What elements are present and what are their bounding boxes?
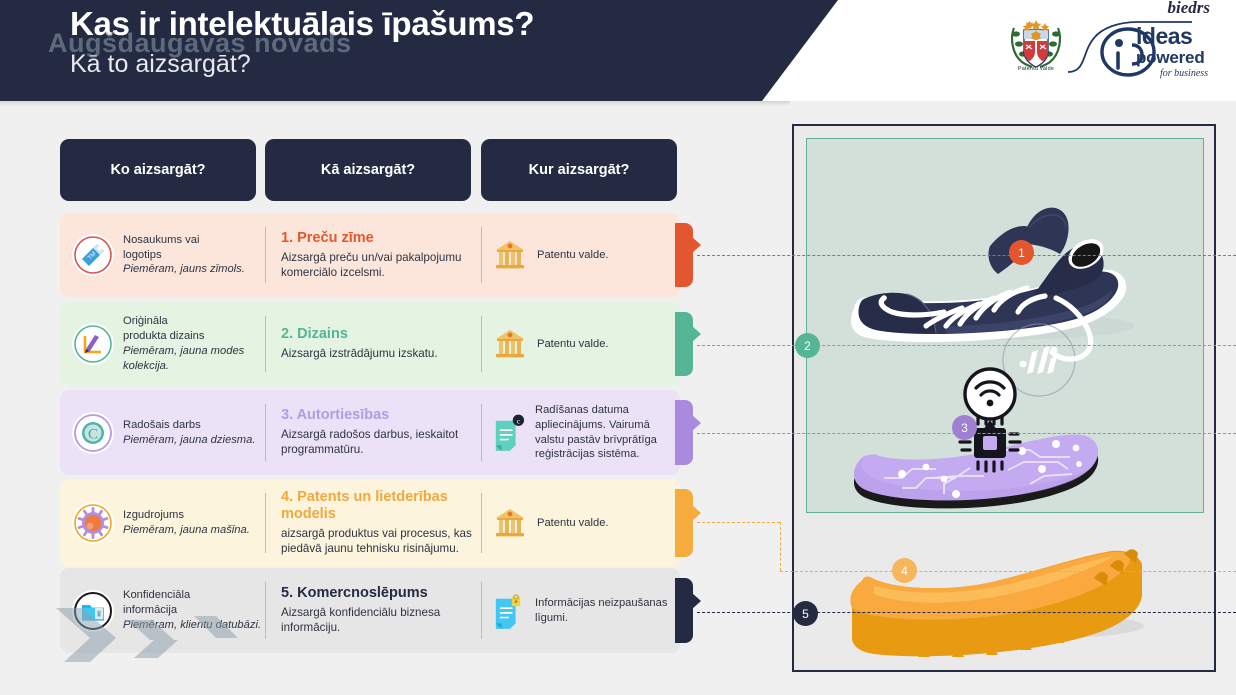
where-text: Patentu valde.	[537, 516, 609, 531]
locked-doc-icon	[493, 591, 525, 631]
what-example: Piemēram, jauns zīmols.	[123, 263, 245, 275]
for-business-tagline: for business	[1160, 68, 1208, 79]
bank-icon	[493, 327, 527, 361]
row-icon-wrapper	[72, 502, 114, 544]
cell-what-to-protect: CRadošais darbsPiemēram, jauna dziesma.	[60, 390, 265, 475]
column-header-label: Kur aizsargāt?	[529, 162, 630, 178]
table-row[interactable]: TMNosaukums vailogotipsPiemēram, jauns z…	[60, 213, 680, 297]
how-title: 2. Dizains	[281, 326, 438, 343]
tm-tag-icon: TM	[73, 235, 113, 275]
svg-text:C: C	[88, 426, 98, 442]
powered-wordmark: powered	[1136, 48, 1205, 68]
table-row[interactable]: IzgudrojumsPiemēram, jauna mašīna.4. Pat…	[60, 479, 680, 567]
cell-divider	[481, 493, 482, 553]
how-block: 2. Dizains Aizsargā izstrādājumu izskatu…	[281, 326, 438, 361]
what-example: Piemēram, jauna mašīna.	[123, 524, 250, 536]
what-line-2: logotips	[123, 249, 162, 261]
where-text: Patentu valde.	[537, 248, 609, 263]
column-header-how[interactable]: Kā aizsargāt?	[265, 139, 471, 201]
cell-how-to-protect: 3. Autortiesības Aizsargā radošos darbus…	[265, 390, 481, 475]
table-row[interactable]: Oriģinālaprodukta dizainsPiemēram, jauna…	[60, 302, 680, 386]
cell-divider	[481, 227, 482, 283]
column-header-label: Ko aizsargāt?	[110, 162, 205, 178]
cell-divider	[265, 316, 266, 372]
row-color-tab	[675, 400, 693, 465]
what-line-1: Radošais darbs	[123, 419, 201, 431]
cell-how-to-protect: 5. Komercnoslēpums Aizsargā konfidenciāl…	[265, 568, 481, 653]
row-arrow-notch	[692, 593, 701, 609]
connector-line	[697, 255, 1236, 256]
row-color-tab	[675, 312, 693, 376]
column-header-what[interactable]: Ko aizsargāt?	[60, 139, 256, 201]
what-example: Piemēram, klientu datubāzi.	[123, 619, 261, 631]
how-description: Aizsargā konfidenciālu biznesa informāci…	[281, 605, 481, 636]
row-arrow-notch	[692, 326, 701, 342]
connector-line	[697, 345, 1236, 346]
how-title: 5. Komercnoslēpums	[281, 585, 481, 602]
row-icon-wrapper: TM	[72, 234, 114, 276]
cell-where-to-protect: Patentu valde.	[481, 213, 680, 297]
smart-insole-illustration	[854, 369, 1098, 508]
connector-line-vertical	[780, 522, 781, 571]
cell-what-to-protect: Oriģinālaprodukta dizainsPiemēram, jauna…	[60, 302, 265, 386]
row-icon-wrapper	[72, 590, 114, 632]
latvia-coat-of-arms-icon	[1008, 18, 1064, 72]
how-title: 4. Patents un lietderības modelis	[281, 489, 481, 523]
table-row[interactable]: CRadošais darbsPiemēram, jauna dziesma.3…	[60, 390, 680, 475]
where-text: Radīšanas datuma apliecinājums. Vairumā …	[535, 403, 680, 463]
what-line-2: informācija	[123, 604, 177, 616]
logo-zone: biedrs Patentu valde ideas powered for b…	[984, 0, 1224, 96]
illustration-badge-1[interactable]: 1	[1009, 240, 1034, 265]
what-line-1: Izgudrojums	[123, 509, 184, 521]
where-text: Patentu valde.	[537, 337, 609, 352]
illustration-panel	[792, 124, 1216, 672]
column-header-where[interactable]: Kur aizsargāt?	[481, 139, 677, 201]
how-title: 3. Autortiesības	[281, 407, 481, 424]
cell-where-to-protect: Informācijas neizpaušanas līgumi.	[481, 568, 680, 653]
what-text: Oriģinālaprodukta dizainsPiemēram, jauna…	[123, 314, 265, 374]
cell-divider	[265, 404, 266, 461]
design-ruler-icon	[73, 324, 113, 364]
invention-gear-icon	[73, 503, 113, 543]
cell-how-to-protect: 1. Preču zīme Aizsargā preču un/vai paka…	[265, 213, 481, 297]
row-arrow-notch	[692, 415, 701, 431]
connector-line	[697, 522, 780, 523]
what-line-1: Nosaukums vai	[123, 234, 199, 246]
how-block: 5. Komercnoslēpums Aizsargā konfidenciāl…	[281, 585, 481, 636]
how-description: Aizsargā preču un/vai pakalpojumu komerc…	[281, 250, 481, 281]
cell-where-to-protect: cRadīšanas datuma apliecinājums. Vairumā…	[481, 390, 680, 475]
cell-divider	[265, 582, 266, 639]
ideas-wordmark: ideas	[1136, 26, 1192, 47]
connector-line	[697, 612, 1236, 613]
copyright-doc-icon: c	[493, 413, 525, 453]
cell-where-to-protect: Patentu valde.	[481, 479, 680, 567]
cell-what-to-protect: IzgudrojumsPiemēram, jauna mašīna.	[60, 479, 265, 567]
copyright-icon: C	[73, 413, 113, 453]
row-icon-wrapper	[72, 323, 114, 365]
how-description: aizsargā produktus vai procesus, kas pie…	[281, 526, 481, 557]
what-example: Piemēram, jauna dziesma.	[123, 434, 255, 446]
row-icon-wrapper: C	[72, 412, 114, 454]
what-line-2: produkta dizains	[123, 330, 204, 342]
bank-icon	[493, 238, 527, 272]
cell-how-to-protect: 2. Dizains Aizsargā izstrādājumu izskatu…	[265, 302, 481, 386]
row-color-tab	[675, 578, 693, 643]
cell-what-to-protect: TMNosaukums vailogotipsPiemēram, jauns z…	[60, 213, 265, 297]
cell-how-to-protect: 4. Patents un lietderības modelis aizsar…	[265, 479, 481, 567]
illustration-badge-3[interactable]: 3	[952, 415, 977, 440]
row-color-tab	[675, 489, 693, 557]
how-description: Aizsargā izstrādājumu izskatu.	[281, 346, 438, 361]
cell-what-to-protect: KonfidenciālainformācijaPiemēram, klient…	[60, 568, 265, 653]
bank-icon	[493, 506, 527, 540]
row-color-tab	[675, 223, 693, 287]
how-block: 1. Preču zīme Aizsargā preču un/vai paka…	[281, 230, 481, 281]
coat-of-arms-label: Patentu valde	[996, 66, 1076, 72]
watermark-text: Augšdaugavas novads	[48, 28, 352, 59]
what-text: IzgudrojumsPiemēram, jauna mašīna.	[123, 508, 250, 538]
what-text: KonfidenciālainformācijaPiemēram, klient…	[123, 588, 261, 633]
cell-where-to-protect: Patentu valde.	[481, 302, 680, 386]
cell-divider	[481, 404, 482, 461]
how-block: 3. Autortiesības Aizsargā radošos darbus…	[281, 407, 481, 458]
header-shadow	[0, 101, 790, 106]
cell-divider	[481, 316, 482, 372]
what-line-1: Oriģināla	[123, 315, 168, 327]
what-text: Nosaukums vailogotipsPiemēram, jauns zīm…	[123, 233, 245, 278]
cell-divider	[265, 493, 266, 553]
illustration-badge-4[interactable]: 4	[892, 558, 917, 583]
product-illustration	[794, 126, 1218, 674]
connector-line	[780, 571, 1236, 572]
what-text: Radošais darbsPiemēram, jauna dziesma.	[123, 418, 255, 448]
table-row[interactable]: KonfidenciālainformācijaPiemēram, klient…	[60, 568, 680, 653]
how-title: 1. Preču zīme	[281, 230, 481, 247]
row-arrow-notch	[692, 237, 701, 253]
cell-divider	[265, 227, 266, 283]
illustration-badge-2[interactable]: 2	[795, 333, 820, 358]
row-arrow-notch	[692, 505, 701, 521]
illustration-badge-5[interactable]: 5	[793, 601, 818, 626]
what-example: Piemēram, jauna modes kolekcija.	[123, 345, 244, 372]
what-line-1: Konfidenciāla	[123, 589, 190, 601]
where-text: Informācijas neizpaušanas līgumi.	[535, 596, 680, 626]
cell-divider	[481, 582, 482, 639]
column-header-label: Kā aizsargāt?	[321, 162, 415, 178]
how-block: 4. Patents un lietderības modelis aizsar…	[281, 489, 481, 556]
how-description: Aizsargā radošos darbus, ieskaitot progr…	[281, 427, 481, 458]
locked-folder-icon	[73, 591, 113, 631]
